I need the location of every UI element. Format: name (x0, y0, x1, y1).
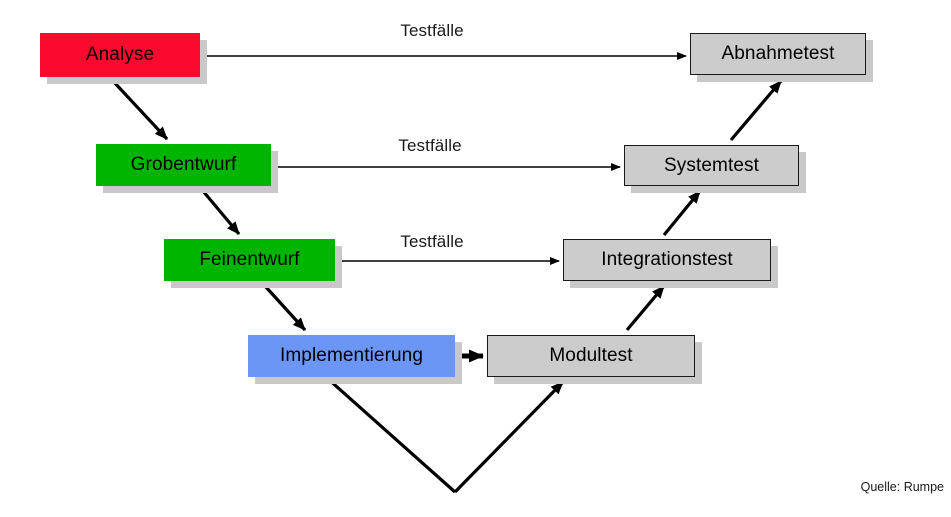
source-note: Quelle: Rumpe (861, 480, 944, 494)
v-model-diagram: Analyse Grobentwurf Feinentwurf Implemen… (0, 0, 951, 517)
connector-feinentwurf-to-implementierung (265, 286, 305, 330)
node-abnahmetest-label: Abnahmetest (721, 44, 834, 64)
connector-grobentwurf-to-feinentwurf (203, 191, 239, 234)
node-grobentwurf[interactable]: Grobentwurf (96, 144, 271, 186)
edge-label-testfaelle-3: Testfälle (400, 232, 463, 252)
node-grobentwurf-label: Grobentwurf (131, 155, 237, 175)
node-integrationstest-label: Integrationstest (601, 250, 733, 270)
node-feinentwurf-label: Feinentwurf (199, 250, 299, 270)
node-analyse[interactable]: Analyse (40, 33, 200, 77)
connector-implementierung-to-vertex (327, 378, 455, 492)
node-modultest-label: Modultest (549, 346, 632, 366)
connector-modultest-to-integrationstest (627, 286, 664, 330)
connector-vertex-to-modultest (455, 382, 563, 492)
node-abnahmetest[interactable]: Abnahmetest (690, 33, 866, 75)
connector-integrationstest-to-systemtest (664, 191, 700, 235)
connector-analyse-to-grobentwurf (113, 81, 167, 139)
node-implementierung-label: Implementierung (280, 346, 423, 366)
node-systemtest-label: Systemtest (664, 156, 759, 176)
edge-label-testfaelle-1: Testfälle (400, 21, 463, 41)
node-systemtest[interactable]: Systemtest (624, 145, 799, 186)
node-feinentwurf[interactable]: Feinentwurf (164, 239, 335, 281)
connector-systemtest-to-abnahmetest (731, 81, 781, 140)
edge-label-testfaelle-2: Testfälle (398, 136, 461, 156)
node-integrationstest[interactable]: Integrationstest (563, 239, 771, 281)
node-implementierung[interactable]: Implementierung (248, 335, 455, 377)
node-analyse-label: Analyse (86, 45, 154, 65)
node-modultest[interactable]: Modultest (487, 335, 695, 377)
